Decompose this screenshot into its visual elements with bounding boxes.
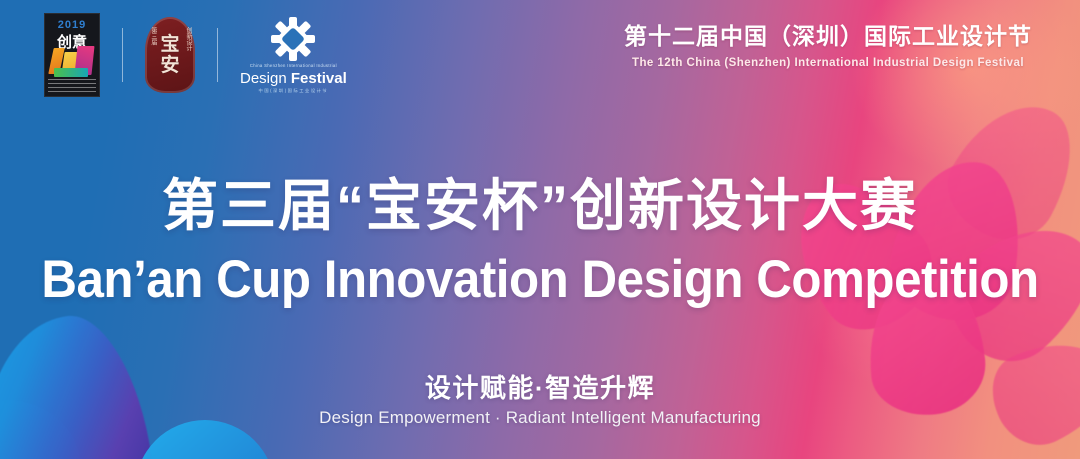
main-title-english: Ban’an Cup Innovation Design Competition xyxy=(38,253,1042,306)
main-title-chinese: 第三届“宝安杯”创新设计大赛 xyxy=(0,178,1080,234)
festival-title-chinese: 第十二届中国（深圳）国际工业设计节 xyxy=(624,22,1032,51)
creative-logo-number-graphic xyxy=(49,46,95,78)
design-festival-word-2: Festival xyxy=(291,70,347,87)
seal-char-top: 宝 xyxy=(160,35,179,54)
tagline-english: Design Empowerment · Radiant Intelligent… xyxy=(0,408,1080,428)
festival-header-text: 第十二届中国（深圳）国际工业设计节 The 12th China (Shenzh… xyxy=(624,22,1032,69)
logo-divider xyxy=(217,28,218,82)
creative-logo-footer-lines xyxy=(48,79,96,93)
design-festival-name: Design Festival xyxy=(240,71,347,86)
creative-12-logo[interactable]: 2019 创意 xyxy=(44,13,100,97)
seal-side-text-left: 第三届 xyxy=(149,27,156,45)
design-festival-logo[interactable]: China Shenzhen International Industrial … xyxy=(240,17,347,93)
baoan-seal-logo[interactable]: 第三届 创新设计 宝 安 xyxy=(145,17,195,93)
creative-logo-year: 2019 xyxy=(45,19,99,31)
design-festival-tiny-line: China Shenzhen International Industrial xyxy=(250,64,337,68)
design-festival-word-1: Design xyxy=(240,70,287,87)
tagline-chinese: 设计赋能·智造升辉 xyxy=(0,368,1080,405)
event-banner: 2019 创意 第三届 创新设计 宝 安 China Shenzhen Inte… xyxy=(0,0,1080,459)
pinwheel-icon xyxy=(271,17,315,61)
design-festival-sub-line: 中国(深圳)国际工业设计节 xyxy=(259,89,329,93)
logo-divider xyxy=(122,28,123,82)
festival-title-english: The 12th China (Shenzhen) International … xyxy=(624,57,1032,69)
seal-side-text-right: 创新设计 xyxy=(184,27,191,51)
logo-row: 2019 创意 第三届 创新设计 宝 安 China Shenzhen Inte… xyxy=(44,12,347,98)
seal-char-bottom: 安 xyxy=(160,56,179,75)
